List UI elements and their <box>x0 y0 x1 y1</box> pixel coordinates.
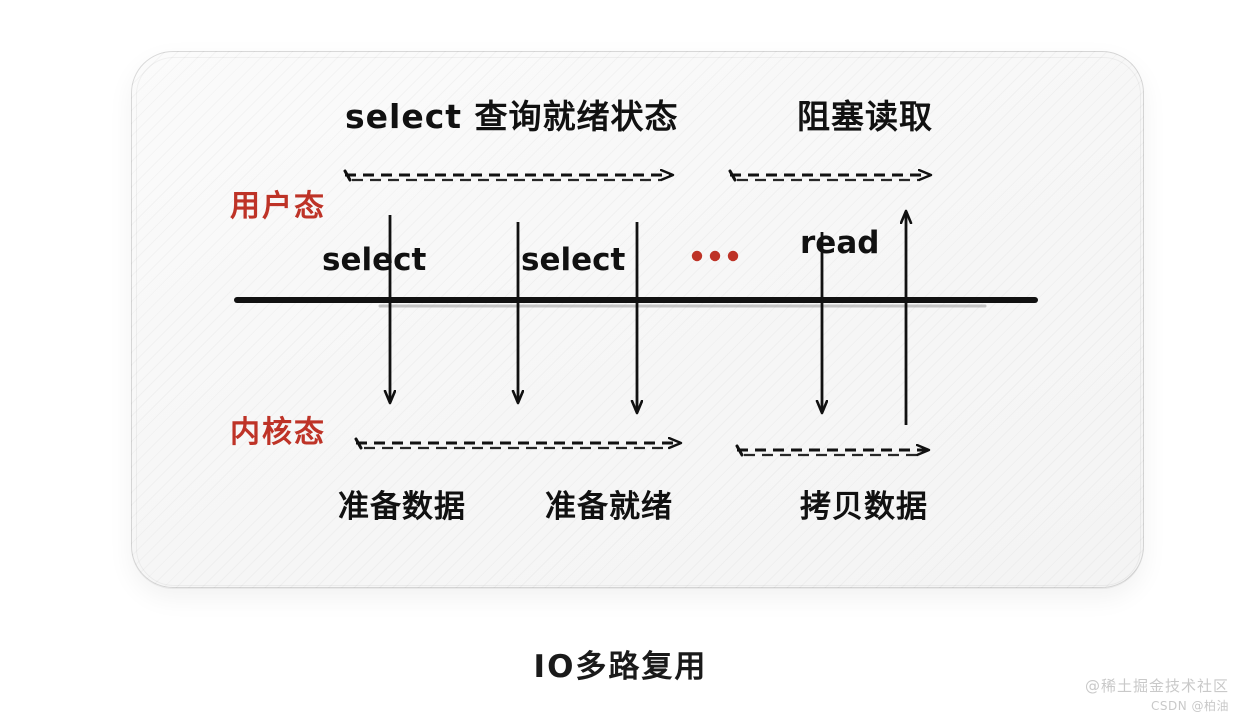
syscall-label-select-1: select <box>322 245 426 276</box>
syscall-label-select-2: select <box>521 245 625 276</box>
lane-label-user-mode: 用户态 <box>230 192 326 222</box>
syscall-label-read: read <box>800 228 879 259</box>
bottom-label-copy-data: 拷贝数据 <box>800 492 928 523</box>
watermark-sub-text: CSDN @柏油 <box>1085 697 1229 714</box>
diagram-caption: IO多路复用 <box>0 652 1241 683</box>
lane-label-kernel-mode: 内核态 <box>230 418 326 448</box>
diagram-canvas: select 查询就绪状态 阻塞读取 用户态 内核态 select select… <box>0 0 1241 720</box>
watermark: @稀土掘金技术社区 CSDN @柏油 <box>1085 675 1229 714</box>
top-label-select-poll: select 查询就绪状态 <box>345 100 679 133</box>
bottom-label-ready: 准备就绪 <box>545 492 673 523</box>
top-label-blocking-read: 阻塞读取 <box>797 100 933 133</box>
watermark-main-text: @稀土掘金技术社区 <box>1085 675 1229 696</box>
bottom-label-prepare-data: 准备数据 <box>338 492 466 523</box>
